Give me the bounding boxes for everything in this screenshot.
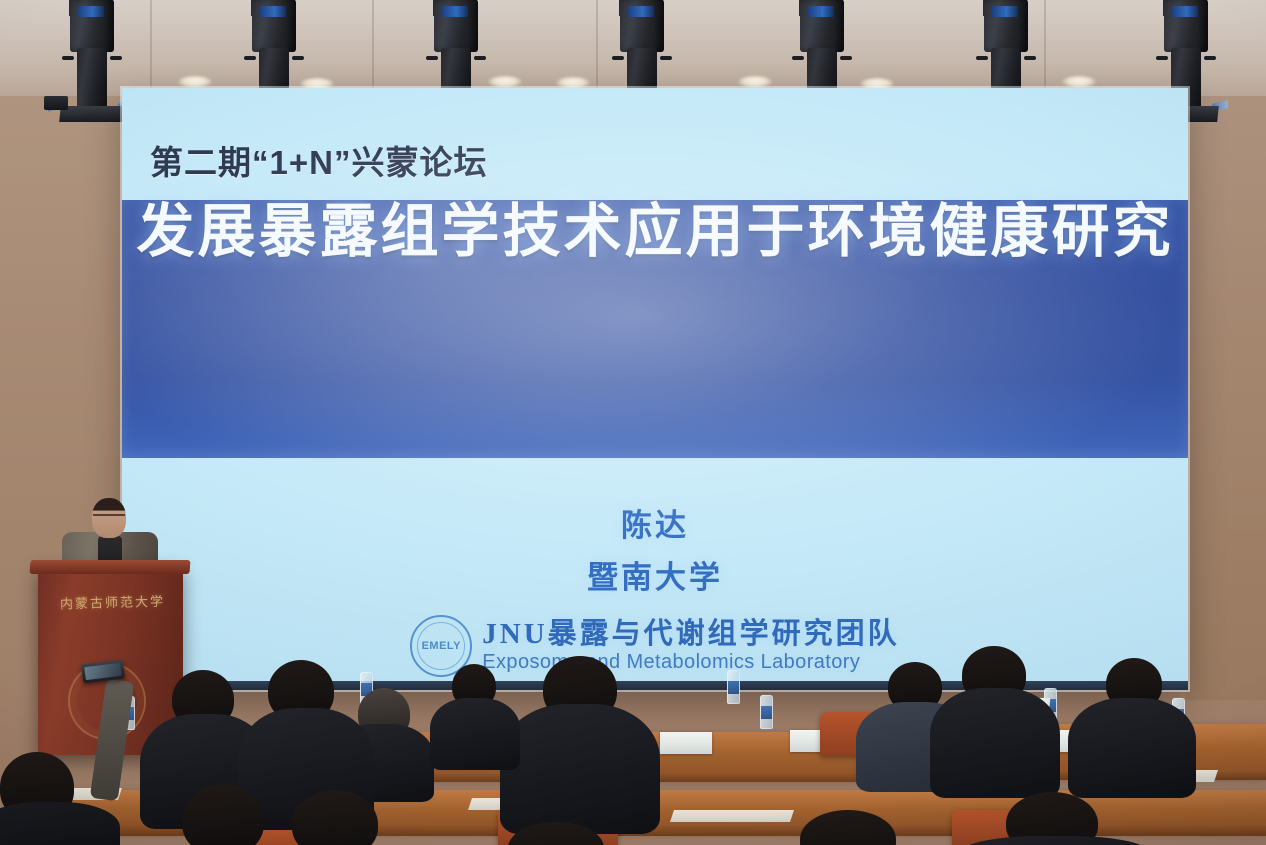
podium-top [30,560,191,574]
slide-affiliation: 暨南大学 [122,552,1188,597]
presentation-slide: 第二期“1+N”兴蒙论坛 发展暴露组学技术应用于环境健康研究 陈达 暨南大学 E… [122,88,1188,690]
water-bottle [727,670,740,704]
downlight [738,76,772,88]
downlight [1062,76,1096,88]
conference-photo-scene: 第二期“1+N”兴蒙论坛 发展暴露组学技术应用于环境健康研究 陈达 暨南大学 E… [0,0,1266,845]
light-rail-clip [44,96,68,110]
audience-member [0,802,120,845]
audience-member [500,704,660,834]
table-name-card [660,732,712,754]
downlight [178,76,212,88]
glasses-icon [93,514,125,523]
audience-member [1068,698,1196,798]
audience-area: 申芳嘉 [0,640,1266,845]
right-wall-panel [1186,60,1266,700]
slide-title-text: 发展暴露组学技术应用于环境健康研究 [122,184,1188,268]
water-bottle [760,695,773,729]
downlight [488,76,522,88]
paper-sheet [670,810,794,822]
audience-member [430,698,520,770]
slide-kicker-text: 第二期“1+N”兴蒙论坛 [150,136,487,184]
slide-speaker-name: 陈达 [122,500,1188,545]
audience-member [930,688,1060,798]
raised-arm [90,679,134,802]
podium-engraving: 内蒙古师范大学 [60,591,170,613]
projection-screen: 第二期“1+N”兴蒙论坛 发展暴露组学技术应用于环境健康研究 陈达 暨南大学 E… [122,88,1188,690]
